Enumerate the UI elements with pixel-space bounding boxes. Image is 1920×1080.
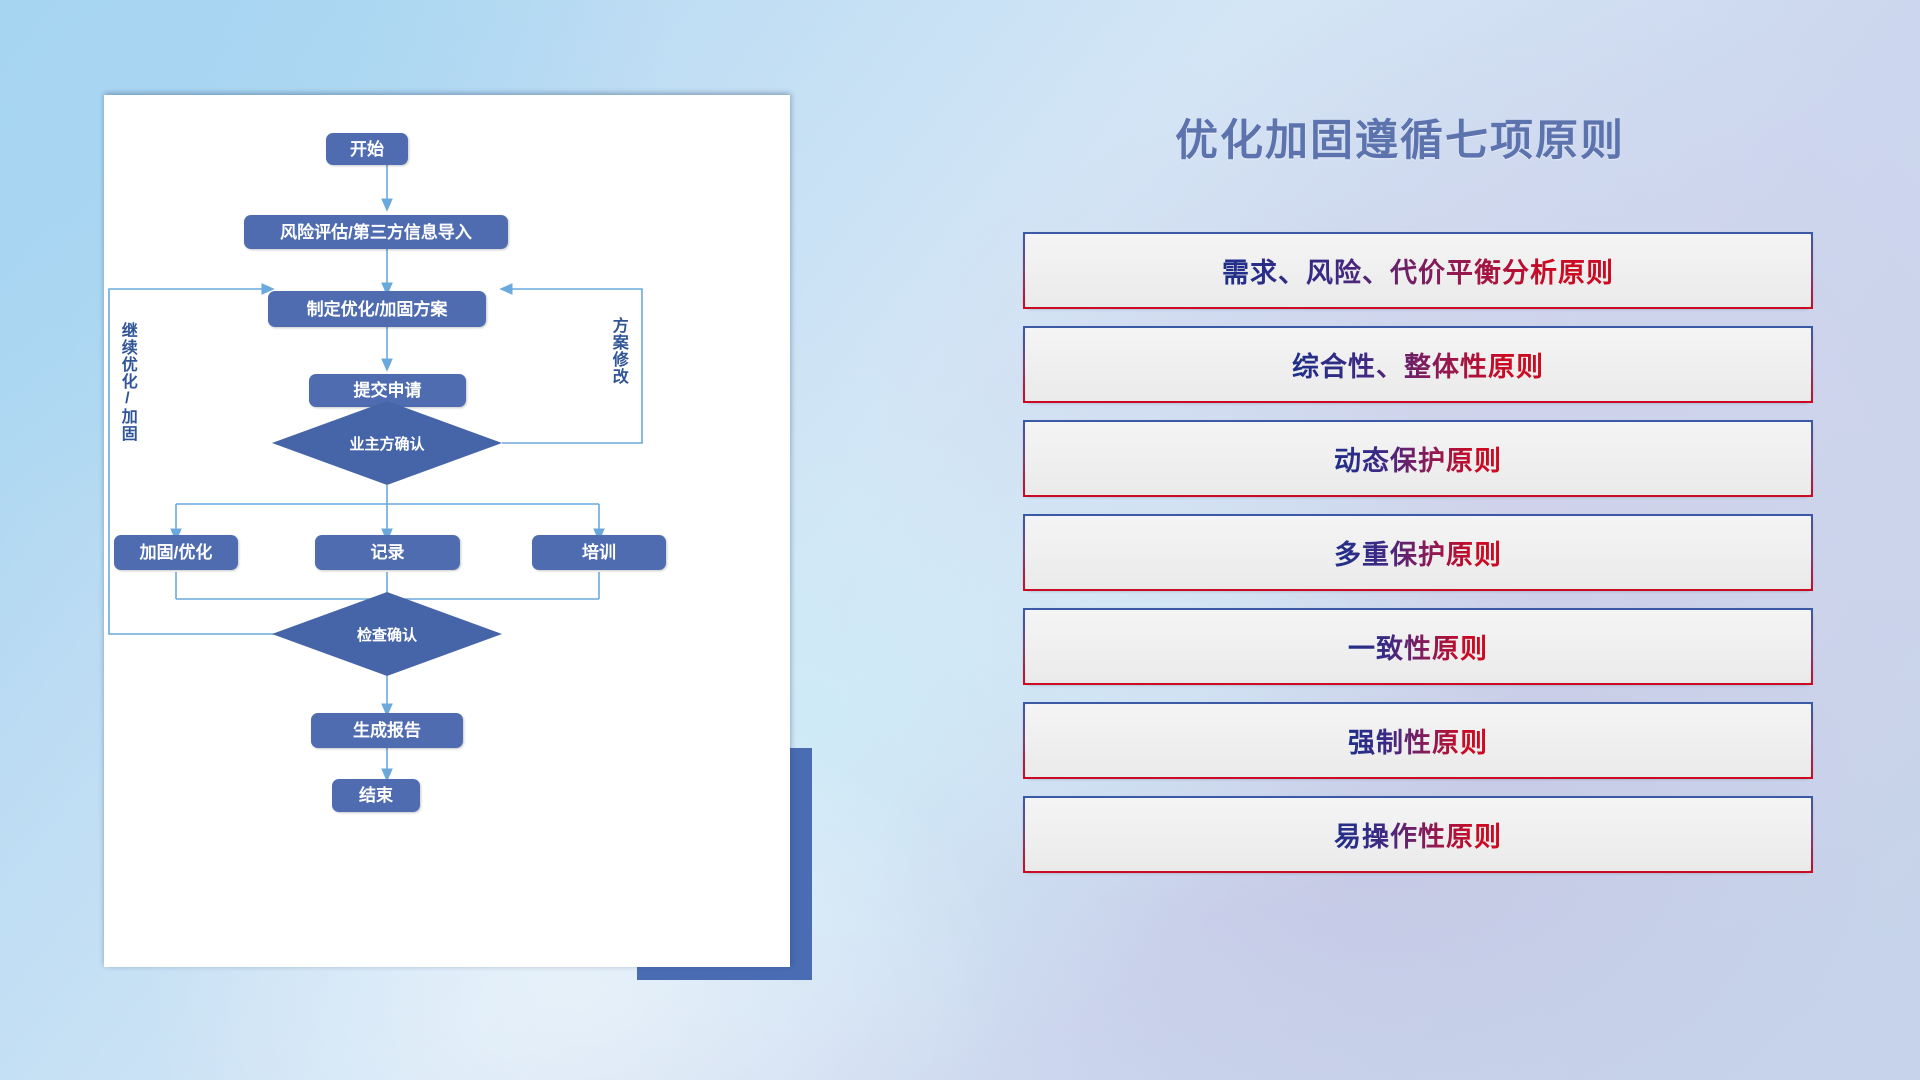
principle-item-3-label: 动态保护原则 <box>1334 439 1502 478</box>
flow-node-report[interactable]: 生成报告 <box>311 713 463 748</box>
flow-node-reinforce-label: 加固/优化 <box>140 544 213 561</box>
flow-node-reinforce[interactable]: 加固/优化 <box>114 535 238 570</box>
principle-item-5[interactable]: 一致性原则 <box>1023 608 1813 685</box>
flow-node-record-label: 记录 <box>371 544 405 561</box>
principle-item-5-label: 一致性原则 <box>1348 627 1488 666</box>
flow-node-end[interactable]: 结束 <box>332 779 420 812</box>
flow-node-training[interactable]: 培训 <box>532 535 666 570</box>
flow-node-risk-assessment-label: 风险评估/第三方信息导入 <box>280 224 472 241</box>
principle-item-6[interactable]: 强制性原则 <box>1023 702 1813 779</box>
flow-node-plan-label: 制定优化/加固方案 <box>307 301 448 318</box>
flowchart-card: 开始 风险评估/第三方信息导入 制定优化/加固方案 提交申请 业主方确认 加固/… <box>104 95 790 967</box>
flowchart: 开始 风险评估/第三方信息导入 制定优化/加固方案 提交申请 业主方确认 加固/… <box>104 95 790 967</box>
principle-item-1-label: 需求、风险、代价平衡分析原则 <box>1222 251 1614 290</box>
principle-item-4-label: 多重保护原则 <box>1334 533 1502 572</box>
flow-node-start[interactable]: 开始 <box>326 133 408 165</box>
principle-item-2-label: 综合性、整体性原则 <box>1292 345 1544 384</box>
principle-item-4[interactable]: 多重保护原则 <box>1023 514 1813 591</box>
flow-node-start-label: 开始 <box>350 141 384 158</box>
principle-item-7-label: 易操作性原则 <box>1334 815 1502 854</box>
flow-node-end-label: 结束 <box>359 787 393 804</box>
flow-node-plan[interactable]: 制定优化/加固方案 <box>268 291 486 327</box>
flow-node-risk-assessment[interactable]: 风险评估/第三方信息导入 <box>244 215 508 249</box>
principle-item-2[interactable]: 综合性、整体性原则 <box>1023 326 1813 403</box>
page-title: 优化加固遵循七项原则 <box>1030 106 1770 168</box>
flow-node-record[interactable]: 记录 <box>315 535 460 570</box>
principle-item-1[interactable]: 需求、风险、代价平衡分析原则 <box>1023 232 1813 309</box>
principle-item-7[interactable]: 易操作性原则 <box>1023 796 1813 873</box>
flow-node-owner-confirm-label: 业主方确认 <box>349 433 424 454</box>
flow-node-submit-label: 提交申请 <box>354 382 422 399</box>
flow-node-check-confirm-label: 检查确认 <box>357 624 417 645</box>
principle-item-6-label: 强制性原则 <box>1348 721 1488 760</box>
flow-node-training-label: 培训 <box>582 544 616 561</box>
flow-node-report-label: 生成报告 <box>353 722 421 739</box>
principle-item-3[interactable]: 动态保护原则 <box>1023 420 1813 497</box>
principles-list: 需求、风险、代价平衡分析原则 综合性、整体性原则 动态保护原则 多重保护原则 一… <box>1023 232 1813 890</box>
edge-label-plan-revision: 方案修改 <box>609 317 626 385</box>
edge-label-continue-optimize: 继续优化/加固 <box>118 322 135 442</box>
